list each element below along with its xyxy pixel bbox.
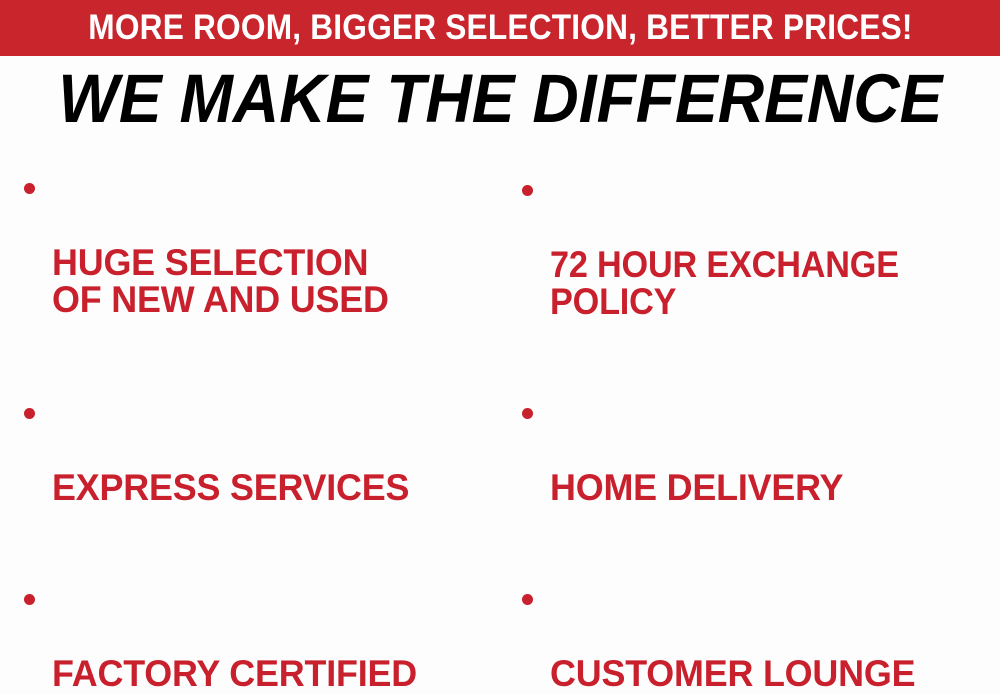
page-title-text: WE MAKE THE DIFFERENCE bbox=[58, 64, 942, 133]
list-item: FACTORY CERTIFIED TECHNICIANS bbox=[14, 581, 500, 694]
features-columns: HUGE SELECTION OF NEW AND USED EXPRESS S… bbox=[0, 160, 1000, 694]
list-item-label: EXPRESS SERVICES bbox=[52, 469, 487, 506]
list-item: 72 HOUR EXCHANGE POLICY bbox=[512, 172, 1000, 357]
list-item-label: FACTORY CERTIFIED TECHNICIANS bbox=[52, 655, 487, 694]
bullet-dot-icon bbox=[522, 408, 533, 419]
list-item: HOME DELIVERY bbox=[512, 395, 1000, 543]
bullet-dot-icon bbox=[24, 594, 35, 605]
features-column-right: 72 HOUR EXCHANGE POLICY HOME DELIVERY CU… bbox=[512, 160, 1000, 694]
list-item-label: HUGE SELECTION OF NEW AND USED bbox=[52, 244, 487, 318]
list-item: CUSTOMER LOUNGE WIFI bbox=[512, 581, 1000, 694]
list-item: HUGE SELECTION OF NEW AND USED bbox=[14, 170, 500, 355]
promo-banner: MORE ROOM, BIGGER SELECTION, BETTER PRIC… bbox=[0, 0, 1000, 694]
bullet-dot-icon bbox=[522, 594, 533, 605]
list-item-label: HOME DELIVERY bbox=[550, 469, 987, 506]
header-bar: MORE ROOM, BIGGER SELECTION, BETTER PRIC… bbox=[0, 0, 1000, 56]
header-bar-text: MORE ROOM, BIGGER SELECTION, BETTER PRIC… bbox=[88, 10, 912, 47]
page-title: WE MAKE THE DIFFERENCE bbox=[0, 64, 1000, 133]
list-item: EXPRESS SERVICES bbox=[14, 395, 500, 543]
bullet-dot-icon bbox=[24, 408, 35, 419]
list-item-label: CUSTOMER LOUNGE WIFI bbox=[550, 655, 987, 694]
bullet-dot-icon bbox=[24, 183, 35, 194]
features-column-left: HUGE SELECTION OF NEW AND USED EXPRESS S… bbox=[14, 160, 500, 694]
bullet-dot-icon bbox=[522, 185, 533, 196]
list-item-label: 72 HOUR EXCHANGE POLICY bbox=[550, 246, 966, 320]
